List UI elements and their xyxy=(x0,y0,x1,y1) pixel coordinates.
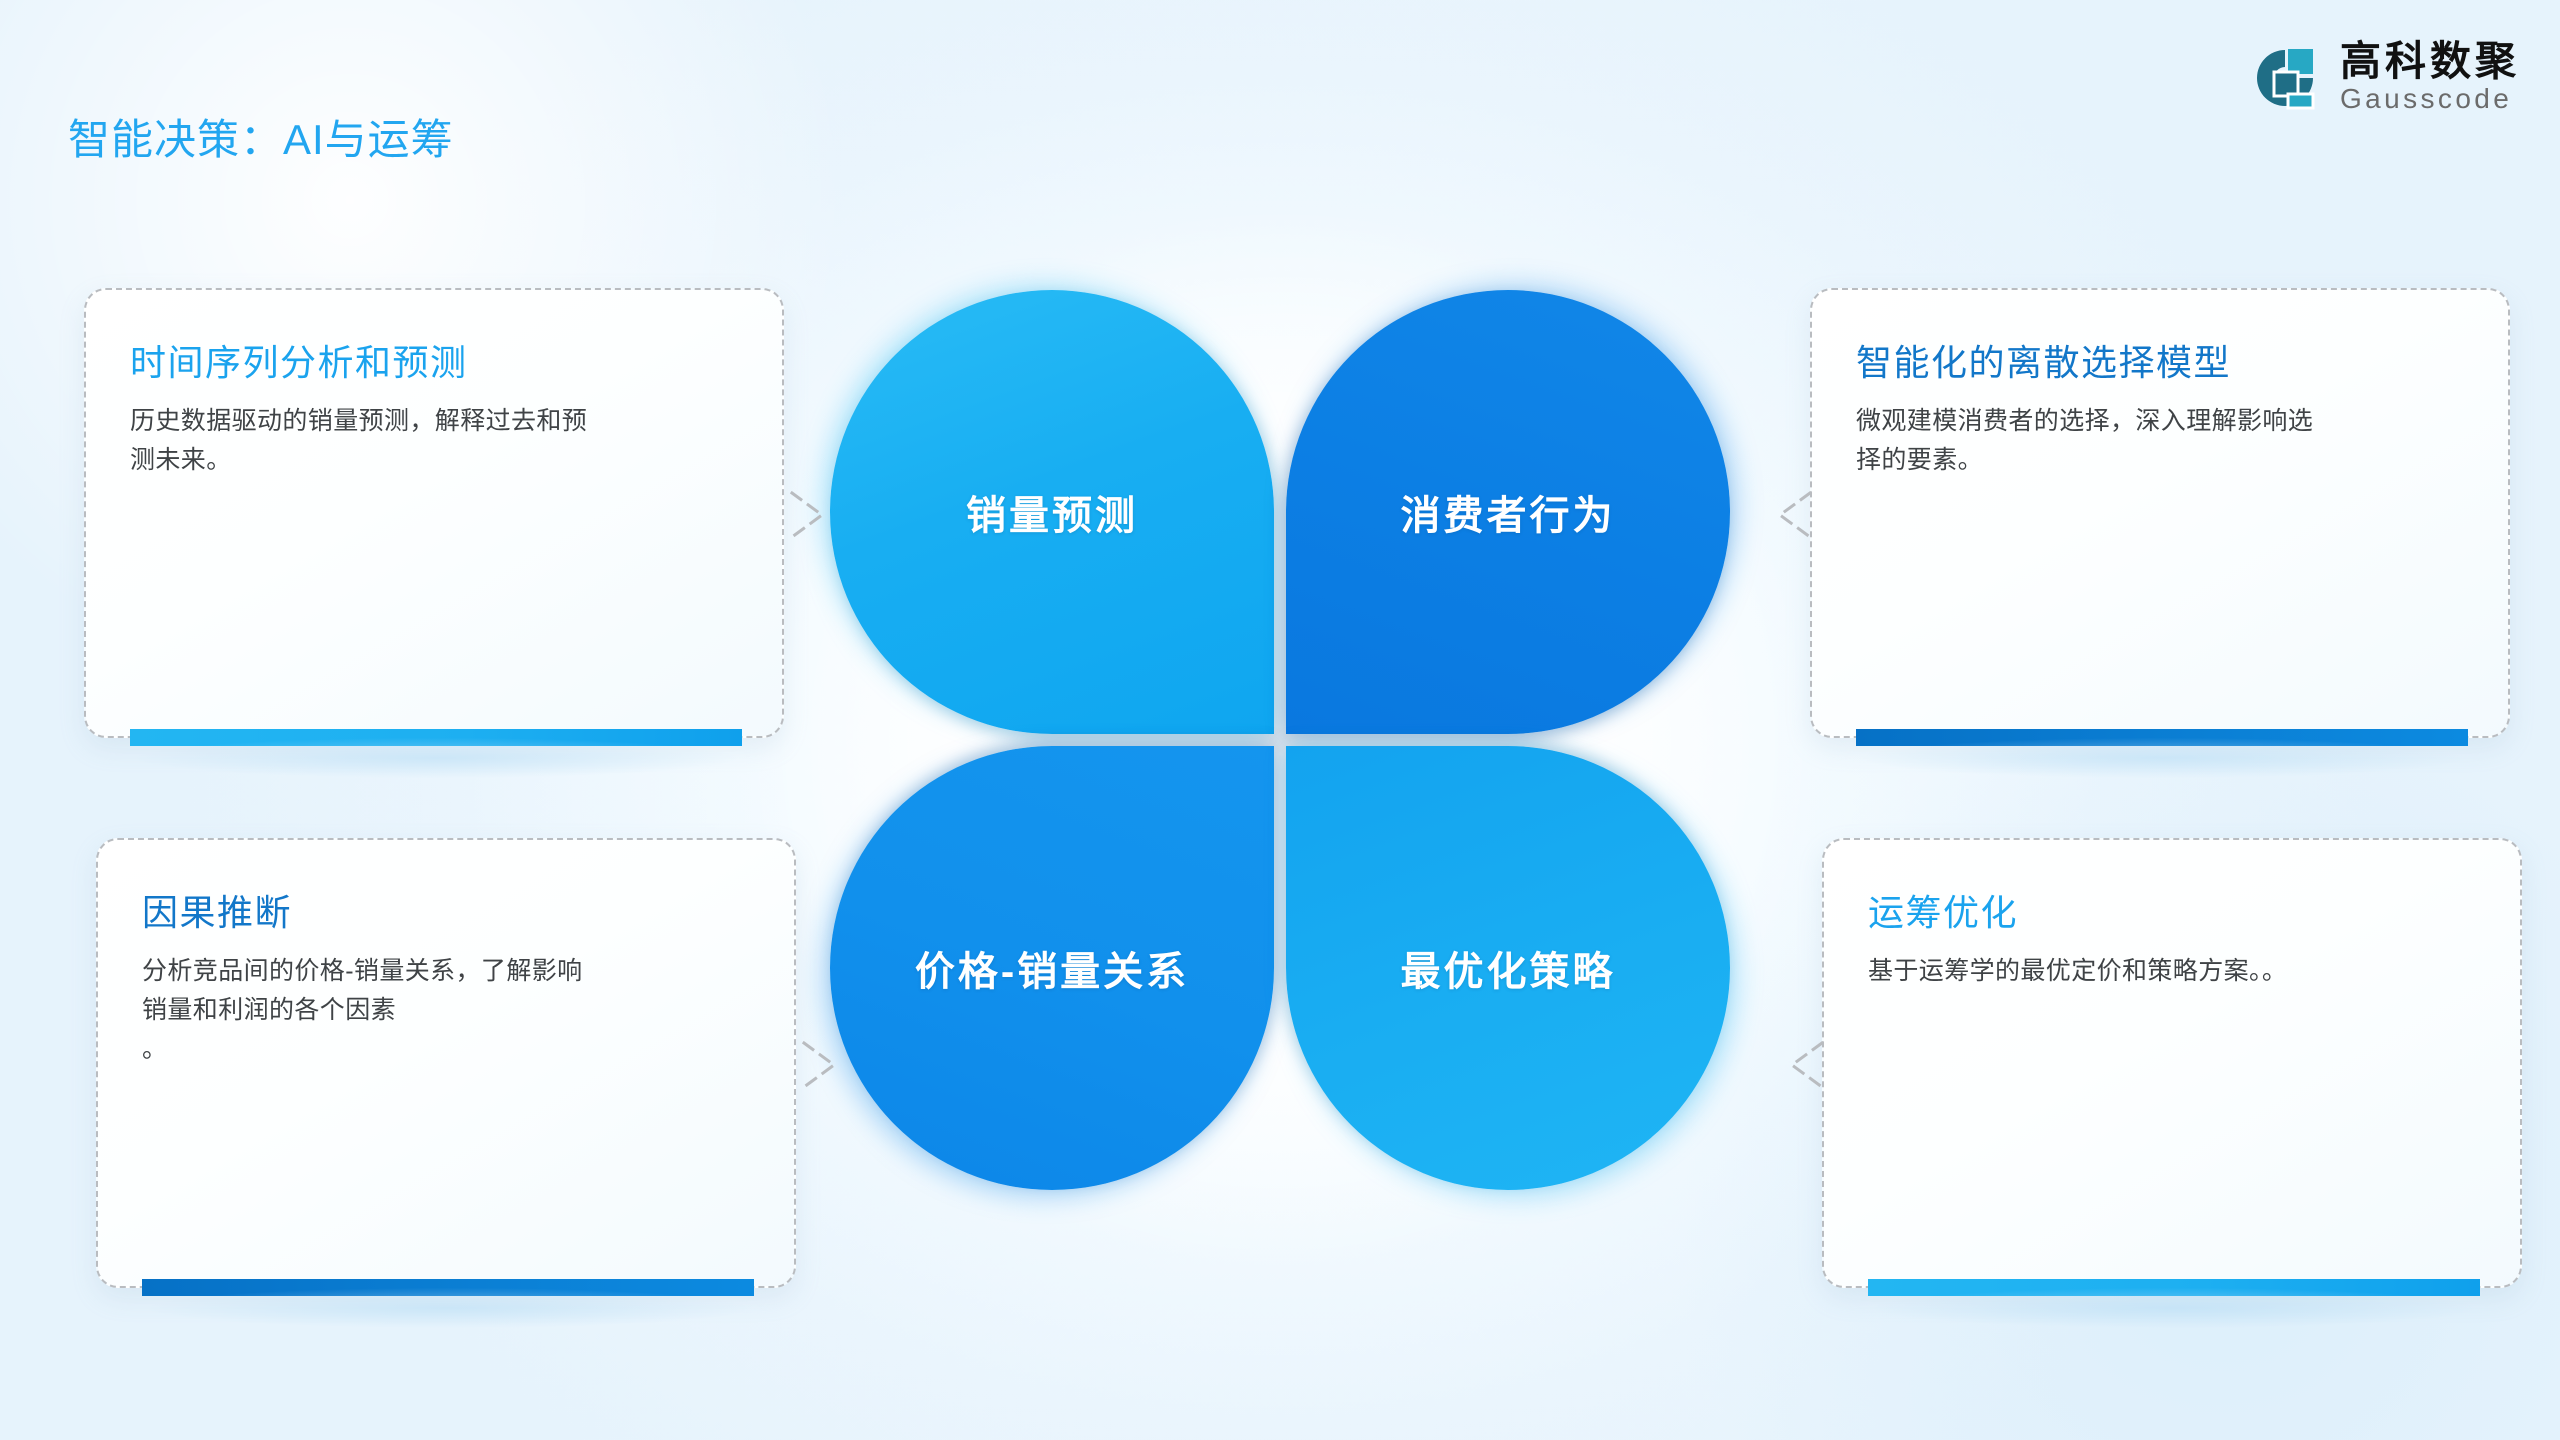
petal-sales-forecast[interactable]: 销量预测 xyxy=(830,290,1274,734)
four-quadrant-flower-diagram: 销量预测 消费者行为 价格-销量关系 最优化策略 xyxy=(830,290,1730,1190)
chevron-right-icon xyxy=(788,487,834,543)
brand-text: 高科数聚 Gausscode xyxy=(2340,40,2520,115)
card-content: 运筹优化 基于运筹学的最优定价和策略方案。。 xyxy=(1868,884,2480,991)
chevron-left-icon xyxy=(1780,1037,1826,1093)
card-drop-shadow xyxy=(148,1288,748,1328)
card-drop-shadow xyxy=(1874,1288,2474,1328)
petal-label: 价格-销量关系 xyxy=(915,939,1189,997)
card-body: 微观建模消费者的选择，深入理解影响选 择的要素。 xyxy=(1856,402,2468,480)
gausscode-logo-icon xyxy=(2252,45,2318,111)
card-content: 因果推断 分析竞品间的价格-销量关系，了解影响 销量和利润的各个因素 。 xyxy=(142,884,754,1068)
card-title: 因果推断 xyxy=(142,884,754,936)
petal-label: 消费者行为 xyxy=(1401,483,1616,541)
petal-label: 最优化策略 xyxy=(1401,939,1616,997)
brand-logo: 高科数聚 Gausscode xyxy=(2252,40,2520,115)
brand-name-cn: 高科数聚 xyxy=(2340,40,2520,83)
slide-header: 智能决策：AI与运筹 高科数聚 Gausscode xyxy=(0,0,2560,180)
chevron-left-icon xyxy=(1768,487,1814,543)
card-title: 运筹优化 xyxy=(1868,884,2480,936)
card-title: 时间序列分析和预测 xyxy=(130,334,742,386)
page-title: 智能决策：AI与运筹 xyxy=(68,106,454,167)
card-discrete-choice[interactable]: 智能化的离散选择模型 微观建模消费者的选择，深入理解影响选 择的要素。 xyxy=(1810,288,2510,738)
card-time-series[interactable]: 时间序列分析和预测 历史数据驱动的销量预测，解释过去和预 测未来。 xyxy=(84,288,784,738)
petal-label: 销量预测 xyxy=(966,483,1138,541)
card-body: 基于运筹学的最优定价和策略方案。。 xyxy=(1868,952,2480,991)
card-operations-research[interactable]: 运筹优化 基于运筹学的最优定价和策略方案。。 xyxy=(1822,838,2522,1288)
card-body: 分析竞品间的价格-销量关系，了解影响 销量和利润的各个因素 。 xyxy=(142,952,754,1068)
card-title: 智能化的离散选择模型 xyxy=(1856,334,2468,386)
petal-price-volume-relationship[interactable]: 价格-销量关系 xyxy=(830,746,1274,1190)
card-drop-shadow xyxy=(1862,738,2462,778)
petal-consumer-behavior[interactable]: 消费者行为 xyxy=(1286,290,1730,734)
card-causal-inference[interactable]: 因果推断 分析竞品间的价格-销量关系，了解影响 销量和利润的各个因素 。 xyxy=(96,838,796,1288)
chevron-right-icon xyxy=(800,1037,846,1093)
card-content: 时间序列分析和预测 历史数据驱动的销量预测，解释过去和预 测未来。 xyxy=(130,334,742,480)
card-body: 历史数据驱动的销量预测，解释过去和预 测未来。 xyxy=(130,402,742,480)
card-content: 智能化的离散选择模型 微观建模消费者的选择，深入理解影响选 择的要素。 xyxy=(1856,334,2468,480)
petal-optimal-strategy[interactable]: 最优化策略 xyxy=(1286,746,1730,1190)
card-drop-shadow xyxy=(136,738,736,778)
brand-name-en: Gausscode xyxy=(2340,83,2520,115)
